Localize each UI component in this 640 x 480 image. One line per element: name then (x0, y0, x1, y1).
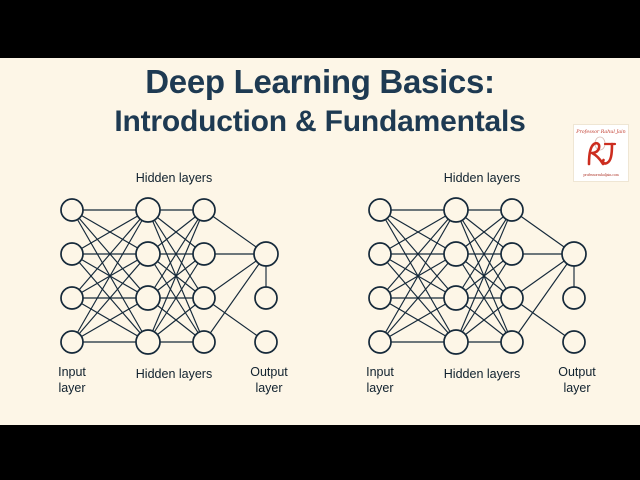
edge-group-right (380, 210, 574, 342)
node-hidden2-2 (193, 243, 215, 265)
label-output-layer-line1: Output (250, 365, 288, 379)
node-input-3 (61, 287, 83, 309)
label-input-layer-line1: Input (58, 365, 86, 379)
node-hidden2-3 (193, 287, 215, 309)
node-hidden1-1 (136, 198, 160, 222)
node-hidden1-3 (136, 286, 160, 310)
node-input-2 (61, 243, 83, 265)
edge-group-left (72, 210, 266, 342)
node-input-4 (369, 331, 391, 353)
title-block: Deep Learning Basics: Introduction & Fun… (0, 62, 640, 142)
node-hidden2-4 (193, 331, 215, 353)
node-hidden2-3 (501, 287, 523, 309)
node-output-3 (255, 331, 277, 353)
brand-logo: Professor Rahul Jain professorrahuljain.… (573, 124, 629, 182)
logo-top-text: Professor Rahul Jain (575, 129, 626, 135)
node-hidden2-4 (501, 331, 523, 353)
node-input-4 (61, 331, 83, 353)
label-input-layer-line2: layer (366, 381, 393, 395)
node-output-3 (563, 331, 585, 353)
slide-frame: Deep Learning Basics: Introduction & Fun… (0, 0, 640, 480)
node-input-2 (369, 243, 391, 265)
node-hidden2-2 (501, 243, 523, 265)
node-output-1 (254, 242, 278, 266)
letterbox-top-bar (0, 0, 640, 58)
node-hidden1-1 (444, 198, 468, 222)
node-input-1 (369, 199, 391, 221)
label-hidden-layers-bottom: Hidden layers (136, 367, 212, 381)
logo-monogram-icon (574, 136, 628, 173)
label-output-layer-line2: layer (563, 381, 590, 395)
label-output-layer-line1: Output (558, 365, 596, 379)
page-title-line-1: Deep Learning Basics: (0, 62, 640, 102)
label-input-layer-line2: layer (58, 381, 85, 395)
node-hidden1-4 (444, 330, 468, 354)
node-input-3 (369, 287, 391, 309)
label-hidden-layers-top: Hidden layers (444, 171, 520, 185)
node-hidden1-3 (444, 286, 468, 310)
label-output-layer-line2: layer (255, 381, 282, 395)
node-group-right (369, 198, 586, 354)
neural-network-diagram-right: Hidden layers Input layer Hidden layers … (330, 168, 630, 418)
node-output-2 (563, 287, 585, 309)
neural-network-diagram-left: Hidden layers Input layer Hidden layers … (22, 168, 322, 418)
node-hidden2-1 (501, 199, 523, 221)
node-hidden1-2 (136, 242, 160, 266)
label-input-layer-line1: Input (366, 365, 394, 379)
node-input-1 (61, 199, 83, 221)
node-group-left (61, 198, 278, 354)
label-hidden-layers-bottom: Hidden layers (444, 367, 520, 381)
logo-bottom-text: professorrahuljain.com (574, 173, 628, 177)
label-hidden-layers-top: Hidden layers (136, 171, 212, 185)
slide-canvas: Deep Learning Basics: Introduction & Fun… (0, 58, 640, 425)
letterbox-bottom-bar (0, 425, 640, 480)
page-title-line-2: Introduction & Fundamentals (0, 102, 640, 142)
node-hidden1-2 (444, 242, 468, 266)
node-output-2 (255, 287, 277, 309)
node-hidden2-1 (193, 199, 215, 221)
node-output-1 (562, 242, 586, 266)
node-hidden1-4 (136, 330, 160, 354)
